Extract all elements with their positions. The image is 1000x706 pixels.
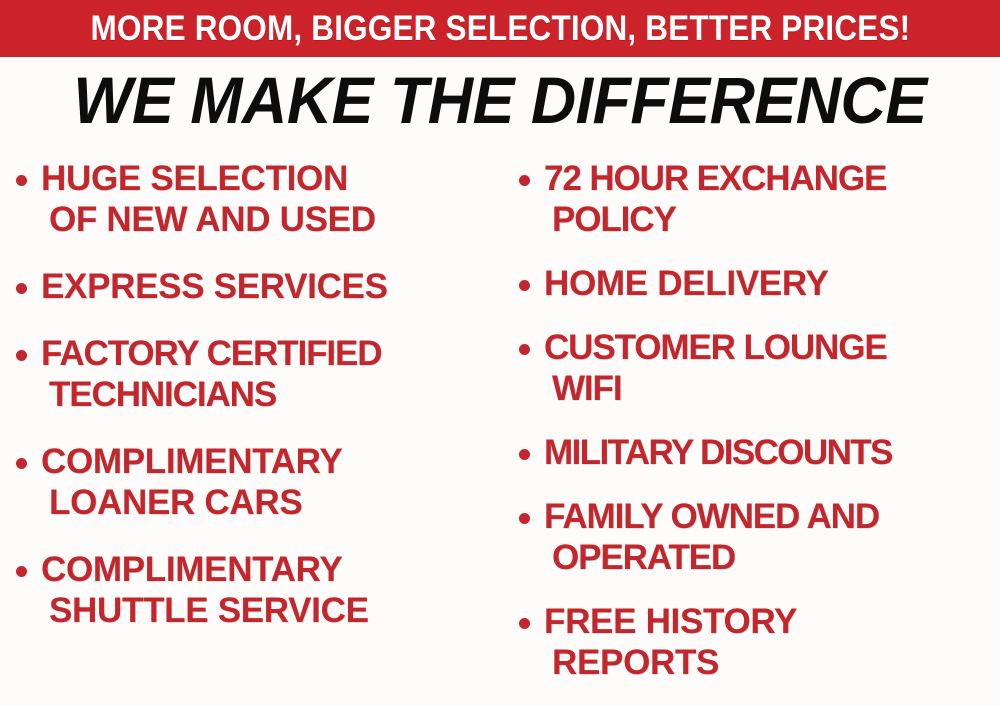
benefits-column-left: HUGE SELECTION OF NEW AND USED EXPRESS S… bbox=[0, 158, 505, 657]
list-item-text: HUGE SELECTION OF NEW AND USED bbox=[41, 158, 501, 240]
bullet-dot-icon bbox=[16, 566, 27, 577]
bullet-dot-icon bbox=[16, 175, 27, 186]
list-item-text: EXPRESS SERVICES bbox=[41, 266, 501, 307]
bullet-dot-icon bbox=[519, 344, 530, 355]
list-item: HUGE SELECTION OF NEW AND USED bbox=[16, 158, 501, 240]
list-item-text: HOME DELIVERY bbox=[544, 263, 1000, 304]
list-item-line1: HUGE SELECTION bbox=[41, 159, 348, 198]
list-item-text: CUSTOMER LOUNGE WIFI bbox=[544, 327, 1000, 409]
list-item-text: 72 HOUR EXCHANGE POLICY bbox=[544, 158, 1000, 240]
advertisement-poster: MORE ROOM, BIGGER SELECTION, BETTER PRIC… bbox=[0, 0, 1000, 694]
list-item-text: FREE HISTORY REPORTS bbox=[544, 601, 1000, 683]
list-item-line1: FACTORY CERTIFIED bbox=[41, 334, 381, 373]
list-item: 72 HOUR EXCHANGE POLICY bbox=[519, 158, 1000, 240]
list-item-line1: COMPLIMENTARY bbox=[41, 442, 342, 481]
list-item-line2: TECHNICIANS bbox=[41, 374, 501, 415]
list-item-line1: CUSTOMER LOUNGE bbox=[544, 328, 887, 367]
list-item-text: COMPLIMENTARY SHUTTLE SERVICE bbox=[41, 549, 501, 631]
list-item-line2: REPORTS bbox=[544, 642, 1000, 683]
list-item-text: FACTORY CERTIFIED TECHNICIANS bbox=[41, 333, 501, 415]
list-item-line1: MILITARY DISCOUNTS bbox=[544, 433, 892, 472]
list-item-line2: OPERATED bbox=[544, 537, 1000, 578]
banner-headline-text: MORE ROOM, BIGGER SELECTION, BETTER PRIC… bbox=[90, 11, 910, 46]
list-item: EXPRESS SERVICES bbox=[16, 266, 501, 307]
bullet-dot-icon bbox=[16, 350, 27, 361]
bullet-dot-icon bbox=[519, 175, 530, 186]
list-item: MILITARY DISCOUNTS bbox=[519, 432, 1000, 473]
list-item-line2: OF NEW AND USED bbox=[41, 199, 501, 240]
list-item: FREE HISTORY REPORTS bbox=[519, 601, 1000, 683]
bullet-dot-icon bbox=[519, 449, 530, 460]
bullet-dot-icon bbox=[16, 283, 27, 294]
list-item-line2: LOANER CARS bbox=[41, 482, 501, 523]
bullet-dot-icon bbox=[519, 513, 530, 524]
list-item-text: COMPLIMENTARY LOANER CARS bbox=[41, 441, 501, 523]
list-item-line1: COMPLIMENTARY bbox=[41, 550, 342, 589]
list-item-line2: SHUTTLE SERVICE bbox=[41, 590, 501, 631]
bullet-dot-icon bbox=[16, 458, 27, 469]
list-item-line2: WIFI bbox=[544, 368, 1000, 409]
benefits-columns: HUGE SELECTION OF NEW AND USED EXPRESS S… bbox=[0, 158, 1000, 678]
list-item: COMPLIMENTARY LOANER CARS bbox=[16, 441, 501, 523]
list-item-line1: 72 HOUR EXCHANGE bbox=[544, 159, 886, 198]
list-item-text: FAMILY OWNED AND OPERATED bbox=[544, 496, 1000, 578]
list-item: FACTORY CERTIFIED TECHNICIANS bbox=[16, 333, 501, 415]
list-item: FAMILY OWNED AND OPERATED bbox=[519, 496, 1000, 578]
list-item: COMPLIMENTARY SHUTTLE SERVICE bbox=[16, 549, 501, 631]
bullet-dot-icon bbox=[519, 618, 530, 629]
list-item-line1: FREE HISTORY bbox=[544, 602, 797, 641]
main-headline: WE MAKE THE DIFFERENCE bbox=[25, 64, 975, 136]
list-item: HOME DELIVERY bbox=[519, 263, 1000, 304]
benefits-column-right: 72 HOUR EXCHANGE POLICY HOME DELIVERY CU… bbox=[505, 158, 1000, 706]
list-item-line2: POLICY bbox=[544, 199, 1000, 240]
bullet-dot-icon bbox=[519, 280, 530, 291]
list-item-line1: HOME DELIVERY bbox=[544, 264, 829, 303]
list-item-text: MILITARY DISCOUNTS bbox=[544, 432, 1000, 473]
list-item-line1: EXPRESS SERVICES bbox=[41, 267, 388, 306]
top-banner: MORE ROOM, BIGGER SELECTION, BETTER PRIC… bbox=[0, 0, 1000, 57]
list-item-line1: FAMILY OWNED AND bbox=[544, 497, 879, 536]
list-item: CUSTOMER LOUNGE WIFI bbox=[519, 327, 1000, 409]
